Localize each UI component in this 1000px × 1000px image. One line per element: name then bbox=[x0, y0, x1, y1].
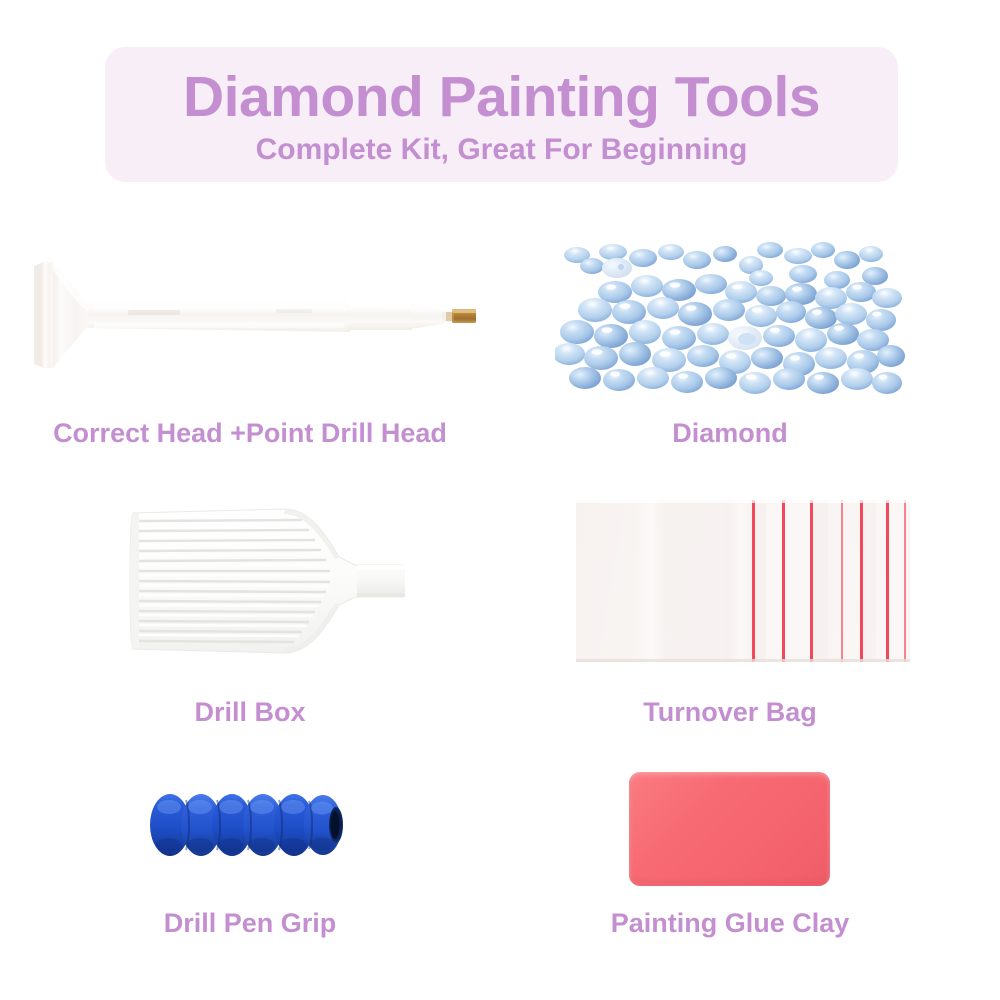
bag-zip-stripe bbox=[752, 500, 755, 662]
product-label-diamond: Diamond bbox=[530, 420, 930, 447]
product-image-diamond bbox=[555, 240, 905, 395]
bag-zip-stripe bbox=[904, 500, 906, 662]
drill-pen-icon bbox=[20, 240, 480, 390]
drill-box-illustration bbox=[125, 495, 415, 665]
bag-panel bbox=[766, 500, 812, 662]
product-label-drill-pen-grip: Drill Pen Grip bbox=[20, 910, 480, 937]
product-label-drill-box: Drill Box bbox=[20, 699, 480, 726]
drill-pen-illustration bbox=[20, 240, 480, 390]
product-image-painting-glue-clay bbox=[629, 772, 830, 886]
bag-sheen bbox=[636, 500, 666, 662]
product-image-correct-point-drill-head bbox=[20, 240, 480, 390]
glue-clay-block bbox=[629, 772, 830, 886]
bag-top-edge bbox=[576, 500, 910, 503]
bag-bottom-edge bbox=[576, 659, 910, 662]
product-label-painting-glue-clay: Painting Glue Clay bbox=[530, 910, 930, 937]
product-label-turnover-bag: Turnover Bag bbox=[530, 699, 930, 726]
bag-zip-stripe bbox=[782, 500, 785, 662]
product-label-correct-point-drill-head: Correct Head +Point Drill Head bbox=[20, 420, 480, 447]
diamond-drills-illustration bbox=[555, 240, 905, 395]
header-banner: Diamond Painting Tools Complete Kit, Gre… bbox=[105, 47, 898, 182]
pen-grip-icon bbox=[145, 783, 355, 868]
drill-box-icon bbox=[125, 495, 415, 665]
pen-grip-illustration bbox=[145, 783, 355, 868]
bag-zip-stripe bbox=[860, 500, 863, 662]
bag-panel bbox=[828, 500, 862, 662]
product-image-drill-pen-grip bbox=[145, 783, 355, 868]
bag-zip-stripe bbox=[810, 500, 813, 662]
diamond-drills-icon bbox=[555, 240, 905, 395]
product-image-turnover-bag bbox=[576, 500, 910, 662]
page-subtitle: Complete Kit, Great For Beginning bbox=[256, 134, 748, 166]
page-title: Diamond Painting Tools bbox=[183, 68, 820, 126]
turnover-bag-illustration bbox=[576, 500, 910, 662]
bag-zip-stripe bbox=[886, 500, 889, 662]
bag-zip-stripe bbox=[841, 500, 843, 662]
product-image-drill-box bbox=[125, 495, 415, 665]
